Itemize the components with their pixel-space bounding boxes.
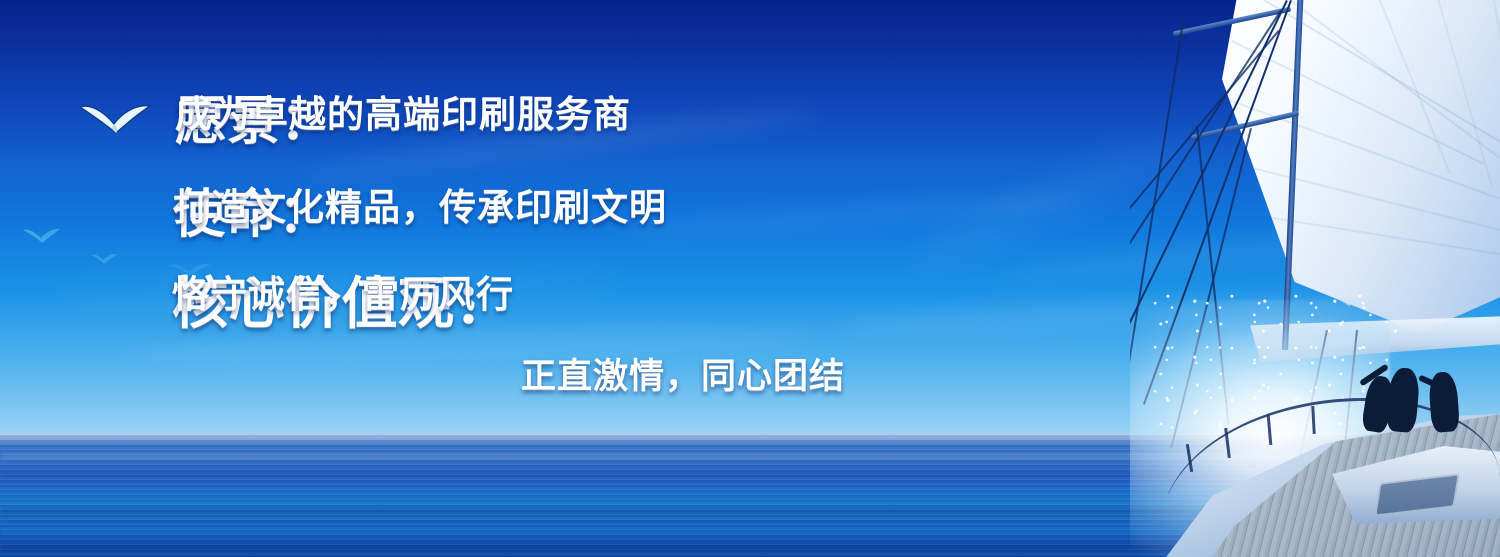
statement-text: 成为卓越的高端印刷服务商 bbox=[175, 96, 631, 133]
culture-statements: 愿景： 成为卓越的高端印刷服务商 使命： 打造文化精品，传承印刷文明 核心价值观… bbox=[0, 0, 920, 557]
company-culture-banner: 愿景： 成为卓越的高端印刷服务商 使命： 打造文化精品，传承印刷文明 核心价值观… bbox=[0, 0, 1500, 557]
statement-text: 恪守诚信，雷厉风行 bbox=[172, 276, 514, 313]
statement-text: 打造文化精品，传承印刷文明 bbox=[173, 189, 667, 226]
sailboat bbox=[1130, 0, 1500, 557]
statement-text: 正直激情，同心团结 bbox=[521, 359, 845, 394]
